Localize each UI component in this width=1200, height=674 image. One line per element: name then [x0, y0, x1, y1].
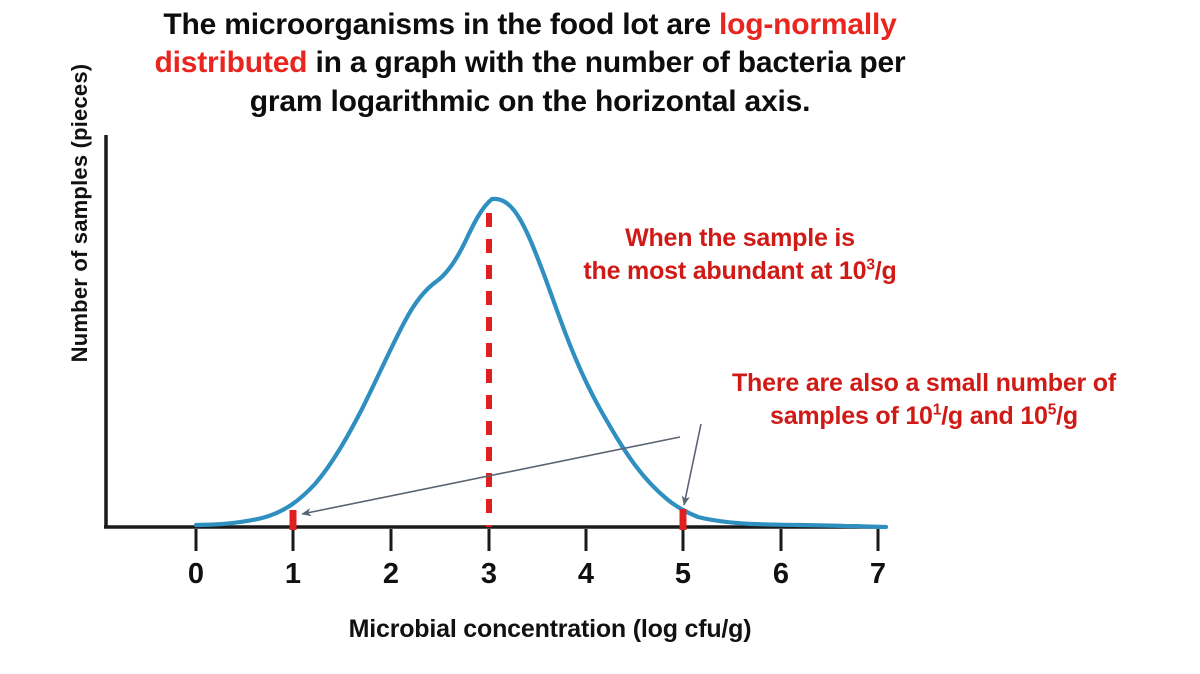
x-tick-label-3: 3	[469, 558, 509, 591]
x-tick-label-6: 6	[761, 558, 801, 591]
title-highlight-distributed: distributed	[155, 46, 308, 79]
annotation-tails: There are also a small number of samples…	[650, 367, 1198, 433]
title-text-normal: The microorganisms in the food lot are	[163, 8, 719, 41]
title-highlight-lognormally: log-normally	[719, 8, 897, 41]
annotation-tails-line-2-mid: /g and 10	[941, 402, 1048, 430]
annotation-peak-line-2-post: /g	[875, 257, 897, 285]
annotation-tails-exponent-5: 5	[1048, 402, 1056, 419]
x-axis-ticks	[196, 529, 878, 551]
annotation-peak-line-1: When the sample is	[625, 224, 855, 252]
annotation-tails-line-2-post: /g	[1056, 402, 1078, 430]
annotation-tails-exponent-1: 1	[933, 402, 941, 419]
annotation-tails-line-2-pre: samples of 10	[770, 402, 933, 430]
x-tick-label-1: 1	[273, 558, 313, 591]
y-axis-title: Number of samples (pieces)	[67, 3, 93, 423]
annotation-tails-line-2: samples of 101/g and 105/g	[650, 400, 1198, 433]
annotation-peak-exponent: 3	[866, 257, 874, 274]
x-tick-label-4: 4	[566, 558, 606, 591]
chart-canvas: The microorganisms in the food lot are l…	[0, 0, 1200, 674]
x-tick-label-7: 7	[858, 558, 898, 591]
title-text-normal-2: in a graph with the number of bacteria p…	[307, 46, 905, 79]
title-line-3: gram logarithmic on the horizontal axis.	[0, 83, 1060, 121]
annotation-arrow-to-high-tail	[684, 424, 701, 505]
annotation-peak-line-2-pre: the most abundant at 10	[583, 257, 866, 285]
x-tick-label-0: 0	[176, 558, 216, 591]
annotation-peak: When the sample is the most abundant at …	[530, 222, 950, 288]
annotation-tails-line-1: There are also a small number of	[732, 369, 1116, 397]
annotation-arrow-to-low-tail	[302, 437, 680, 514]
title-line-1: The microorganisms in the food lot are l…	[0, 6, 1060, 44]
x-axis-title: Microbial concentration (log cfu/g)	[150, 615, 950, 644]
title-line-2: distributed in a graph with the number o…	[0, 44, 1060, 82]
page-title: The microorganisms in the food lot are l…	[0, 6, 1060, 121]
x-tick-label-5: 5	[663, 558, 703, 591]
x-tick-label-2: 2	[371, 558, 411, 591]
